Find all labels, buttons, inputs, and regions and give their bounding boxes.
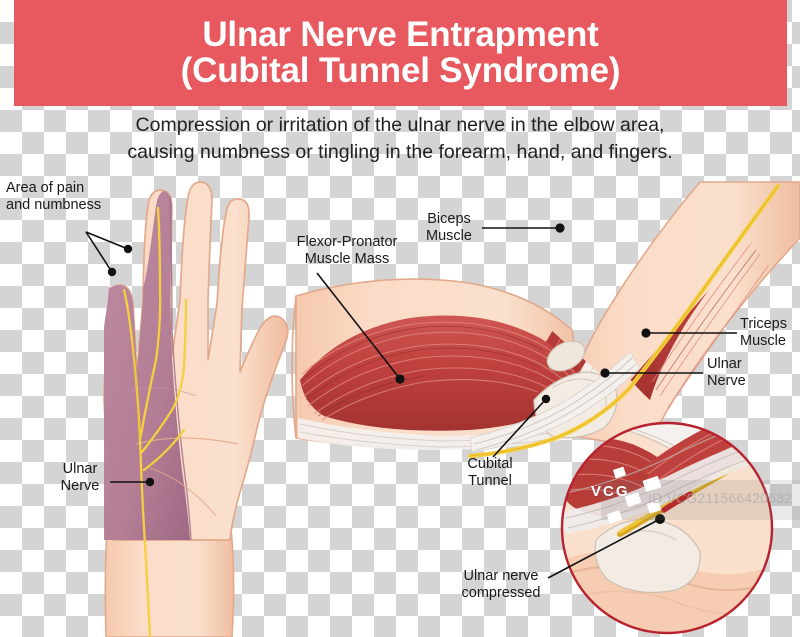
arm-illustration — [292, 182, 800, 456]
illustration-canvas: Ulnar Nerve Entrapment (Cubital Tunnel S… — [0, 0, 800, 637]
label-triceps-muscle-line-1: Triceps — [740, 316, 787, 333]
label-area-of-pain: Area of pain and numbness — [6, 180, 101, 214]
label-area-of-pain-line-1: Area of pain — [6, 180, 101, 197]
label-arm-ulnar-nerve: Ulnar Nerve — [707, 356, 746, 390]
label-arm-ulnar-nerve-line-2: Nerve — [707, 373, 746, 390]
label-ulnar-nerve-compressed-line-1: Ulnar nerve — [453, 568, 549, 585]
label-flexor-pronator: Flexor-Pronator Muscle Mass — [288, 234, 406, 268]
label-triceps-muscle: Triceps Muscle — [740, 316, 787, 350]
label-triceps-muscle-line-2: Muscle — [740, 333, 787, 350]
label-flexor-pronator-line-1: Flexor-Pronator — [288, 234, 406, 251]
label-biceps-muscle-line-2: Muscle — [418, 228, 480, 245]
label-cubital-tunnel-line-1: Cubital — [459, 456, 521, 473]
label-biceps-muscle: Biceps Muscle — [418, 211, 480, 245]
label-flexor-pronator-line-2: Muscle Mass — [288, 251, 406, 268]
label-ulnar-nerve-compressed-line-2: compressed — [453, 585, 549, 602]
label-ulnar-nerve-compressed: Ulnar nerve compressed — [453, 568, 549, 602]
label-hand-ulnar-nerve-line-2: Nerve — [52, 478, 108, 495]
label-hand-ulnar-nerve: Ulnar Nerve — [52, 461, 108, 495]
label-cubital-tunnel-line-2: Tunnel — [459, 473, 521, 490]
label-cubital-tunnel: Cubital Tunnel — [459, 456, 521, 490]
label-arm-ulnar-nerve-line-1: Ulnar — [707, 356, 746, 373]
watermark-id: ID:VCG211566420532 — [648, 490, 792, 506]
label-biceps-muscle-line-1: Biceps — [418, 211, 480, 228]
label-area-of-pain-line-2: and numbness — [6, 197, 101, 214]
label-hand-ulnar-nerve-line-1: Ulnar — [52, 461, 108, 478]
watermark-brand: VCG — [591, 483, 630, 500]
anatomy-artwork — [0, 0, 800, 637]
